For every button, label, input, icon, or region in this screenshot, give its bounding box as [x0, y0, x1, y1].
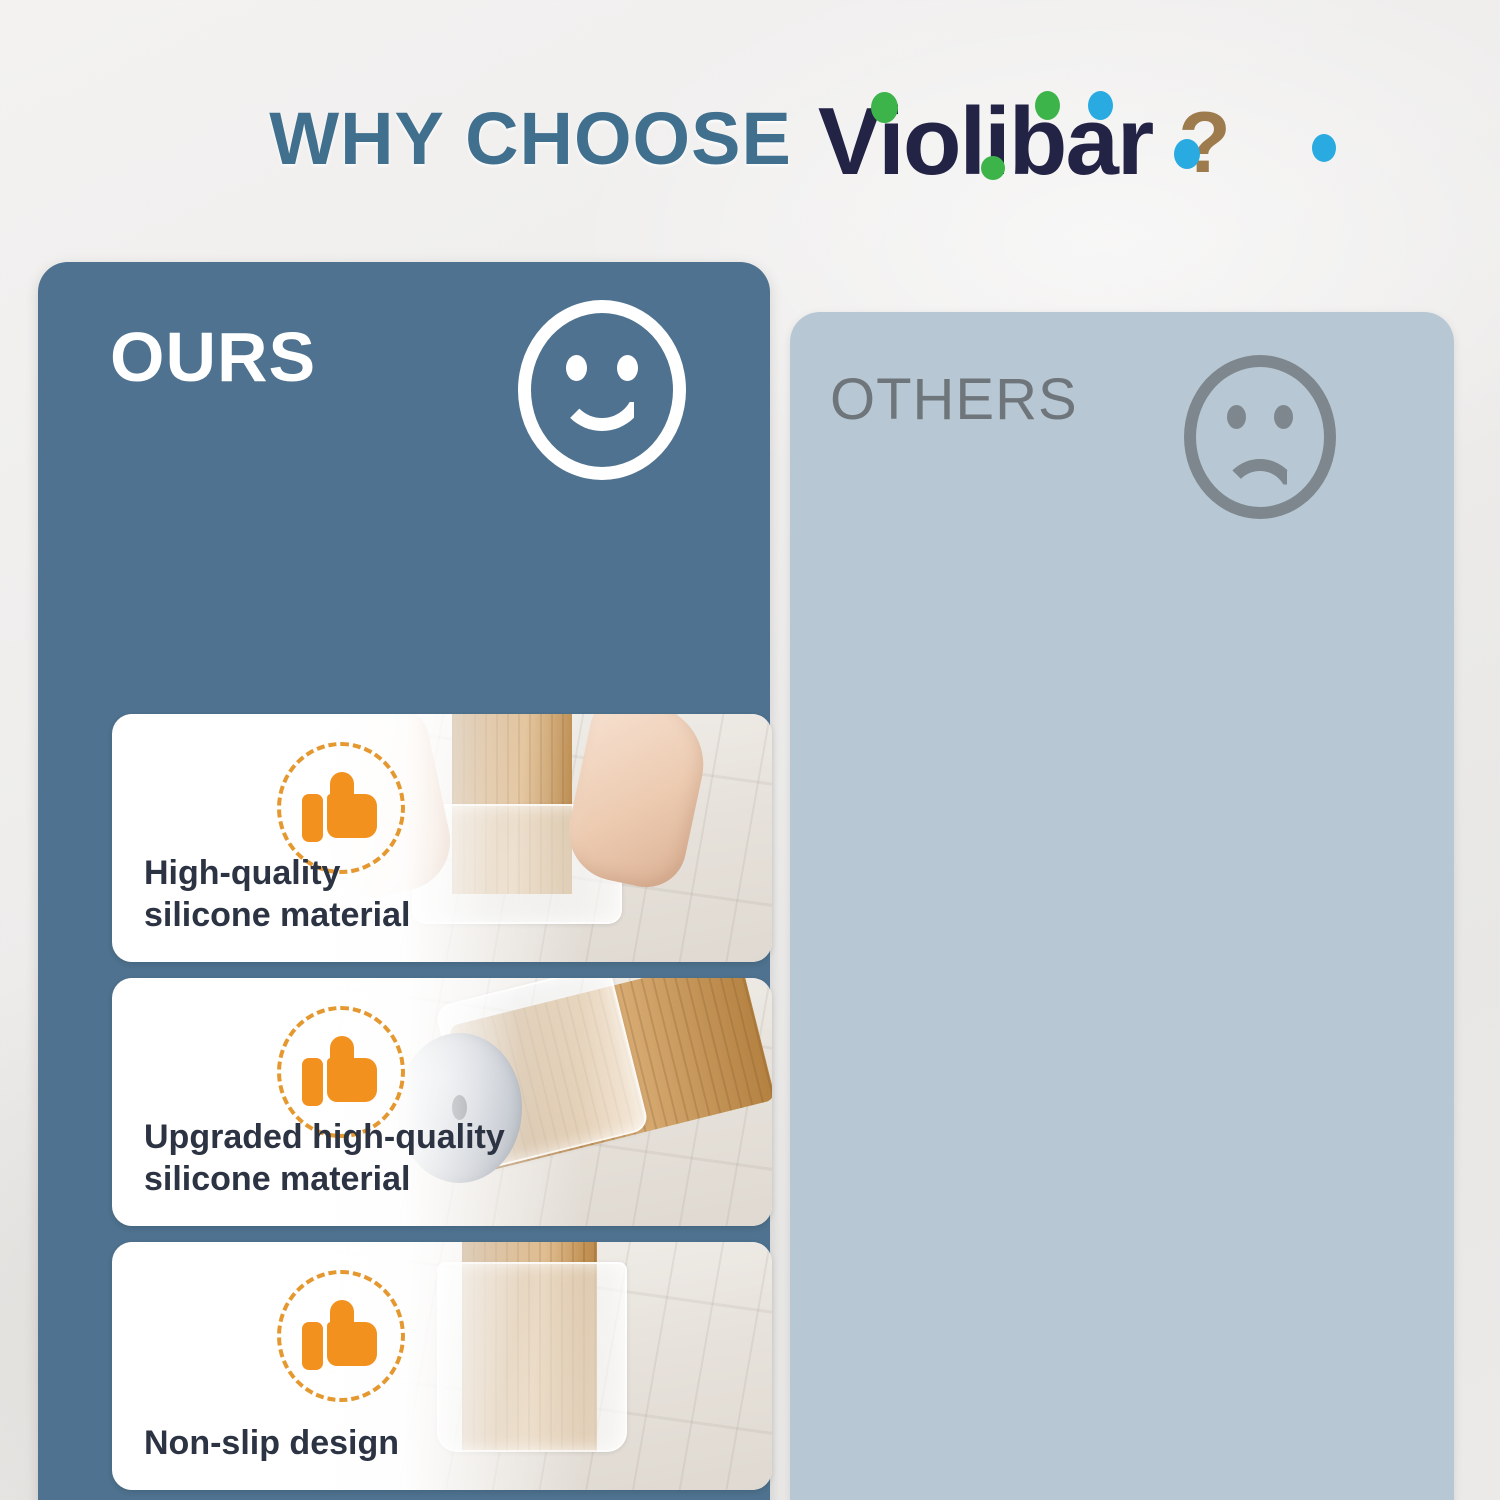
- ours-panel-title: OURS: [110, 317, 316, 397]
- page-title: WHY CHOOSE: [269, 96, 792, 181]
- others-panel-title: OTHERS: [830, 366, 1078, 433]
- brand-logo: Violibar: [818, 86, 1152, 190]
- ours-feature-card-3: Non-slip design: [112, 1242, 772, 1490]
- ours-feature-card-1: High-qualitysilicone material: [112, 714, 772, 962]
- logo-dot-cyan-1: [1088, 91, 1113, 120]
- others-panel: OTHERS Weak elasticity Easy to: [790, 312, 1454, 1500]
- logo-dot-green-2: [1035, 91, 1060, 120]
- thumbs-up-badge-3: [277, 1270, 405, 1402]
- logo-dot-green-1: [871, 92, 898, 123]
- thumbs-up-icon: [302, 1036, 380, 1108]
- question-mark: ?: [1178, 90, 1231, 186]
- ours-feature-label-1: High-qualitysilicone material: [144, 852, 410, 936]
- smiley-sad-face-icon: [1184, 355, 1336, 519]
- logo-dot-green-inner-o: [981, 156, 1005, 180]
- ours-feature-label-3: Non-slip design: [144, 1422, 399, 1464]
- ours-feature-card-2: Upgraded high-qualitysilicone material: [112, 978, 772, 1226]
- logo-dot-cyan-2: [1174, 139, 1200, 169]
- logo-dot-cyan-3: [1312, 134, 1336, 162]
- ours-feature-label-2: Upgraded high-qualitysilicone material: [144, 1116, 505, 1200]
- page-header: WHY CHOOSE Violibar ?: [0, 58, 1500, 218]
- smiley-happy-face-icon: [518, 300, 686, 480]
- others-panel-header: OTHERS: [790, 312, 1454, 487]
- thumbs-up-icon: [302, 1300, 380, 1372]
- thumbs-up-icon: [302, 772, 380, 844]
